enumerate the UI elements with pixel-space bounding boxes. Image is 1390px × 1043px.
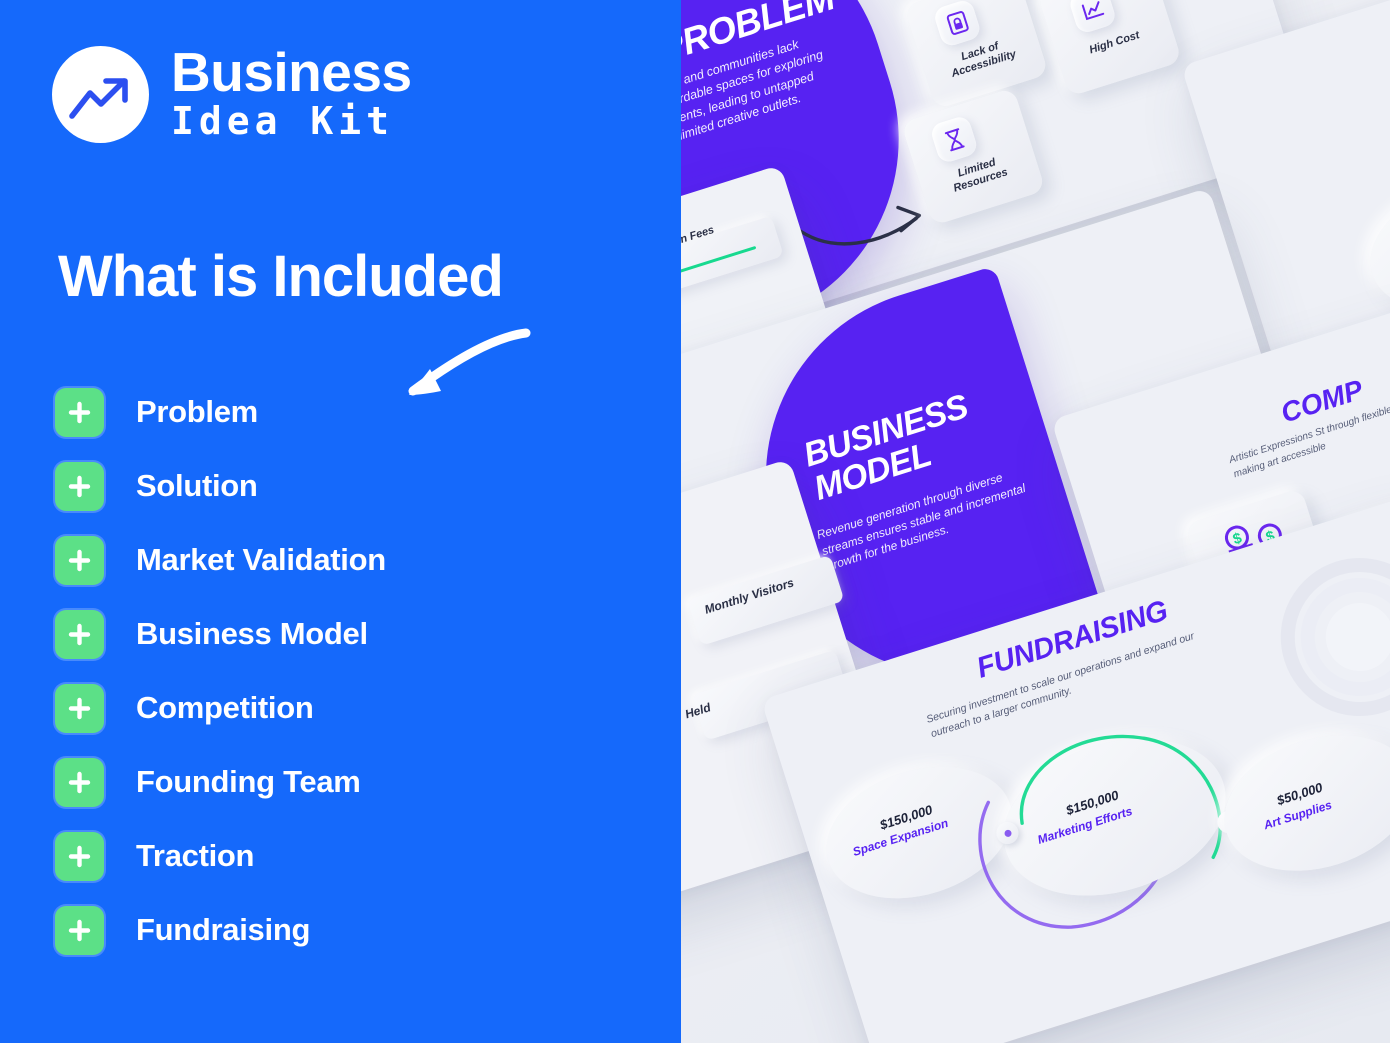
plus-icon <box>55 462 104 511</box>
solution-oval <box>1354 163 1390 332</box>
slide-showcase-panel: THE PROBLEM Many individuals and communi… <box>681 0 1390 1043</box>
list-item[interactable]: Traction <box>55 832 386 880</box>
curved-arrow-down-left-icon <box>383 325 533 405</box>
list-item[interactable]: Business Model <box>55 610 386 658</box>
brand-name-line-2: Idea Kit <box>171 100 412 144</box>
plus-icon <box>55 536 104 585</box>
included-features-list: Problem Solution Market Validation Busin… <box>55 388 386 980</box>
growth-chart-circle-icon <box>52 46 149 143</box>
fundraising-decor-arcs <box>1218 533 1390 759</box>
poster-root: THE PROBLEM Many individuals and communi… <box>0 0 1390 1043</box>
plus-icon <box>55 906 104 955</box>
list-item-label: Business Model <box>136 616 368 652</box>
hourglass-icon <box>943 127 966 152</box>
plus-icon <box>55 684 104 733</box>
list-item-label: Problem <box>136 394 258 430</box>
plus-icon <box>55 758 104 807</box>
brand-wordmark: Business Idea Kit <box>171 46 412 144</box>
list-item[interactable]: Solution <box>55 462 386 510</box>
list-item-label: Founding Team <box>136 764 361 800</box>
list-item-label: Solution <box>136 468 258 504</box>
list-item[interactable]: Problem <box>55 388 386 436</box>
plus-icon <box>55 610 104 659</box>
brand-name-line-1: Business <box>171 46 412 98</box>
plus-icon <box>55 832 104 881</box>
list-item[interactable]: Market Validation <box>55 536 386 584</box>
list-item[interactable]: Competition <box>55 684 386 732</box>
svg-text:$: $ <box>1231 529 1245 548</box>
locked-document-icon <box>945 10 970 37</box>
rising-chart-icon <box>1080 0 1106 22</box>
plus-icon <box>55 388 104 437</box>
list-item-label: Competition <box>136 690 314 726</box>
page-title: What is Included <box>58 248 503 306</box>
list-item-label: Market Validation <box>136 542 386 578</box>
list-item[interactable]: Founding Team <box>55 758 386 806</box>
brand-logo: Business Idea Kit <box>52 46 412 144</box>
list-item[interactable]: Fundraising <box>55 906 386 954</box>
left-info-panel: Business Idea Kit What is Included Probl… <box>0 0 681 1043</box>
list-item-label: Fundraising <box>136 912 310 948</box>
list-item-label: Traction <box>136 838 254 874</box>
